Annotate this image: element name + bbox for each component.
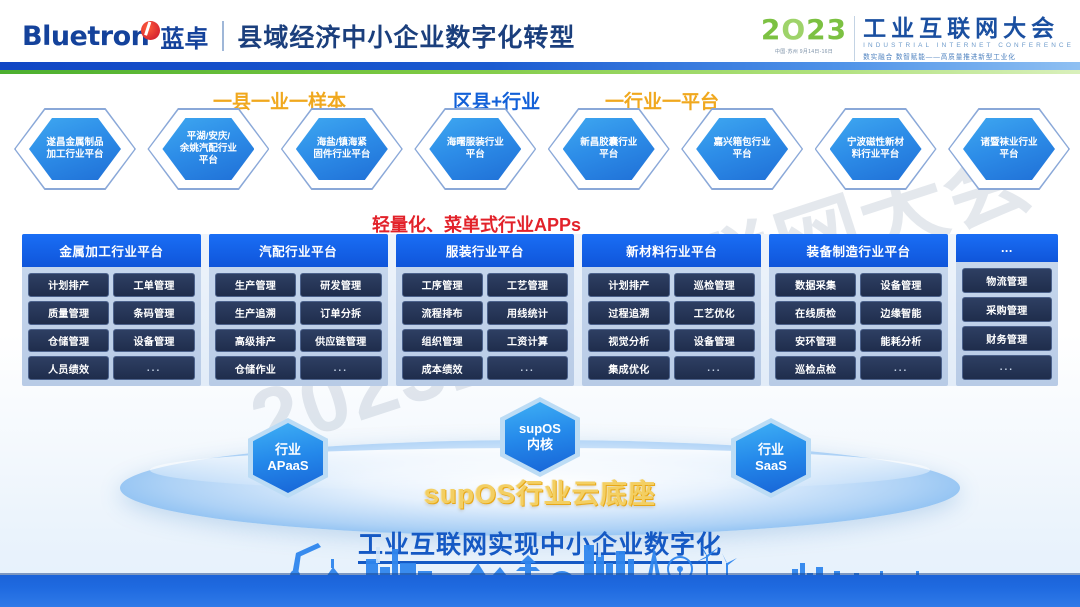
brand-cn-text: 蓝卓 (160, 19, 208, 54)
app-item[interactable]: ... (860, 356, 941, 380)
app-column-5[interactable]: 装备制造行业平台数据采集设备管理在线质检边缘智能安环管理能耗分析巡检点检... (769, 234, 948, 386)
hex-platform-8[interactable]: 诸暨袜业行业 平台 (948, 108, 1070, 190)
app-item[interactable]: 条码管理 (113, 301, 194, 325)
app-column-body: 生产管理研发管理生产追溯订单分拆高级排产供应链管理仓储作业... (209, 267, 388, 386)
app-item[interactable]: 巡检管理 (674, 273, 755, 297)
app-item[interactable]: 工艺优化 (674, 301, 755, 325)
conference-slogan: 数实融合 数智赋能——高质量推进新型工业化 (863, 51, 1074, 61)
app-column-body: 计划排产工单管理质量管理条码管理仓储管理设备管理人员绩效... (22, 267, 201, 386)
hex-platform-6[interactable]: 嘉兴箱包行业 平台 (681, 108, 803, 190)
conference-meta: 中国·苏州 9月14日-16日 (761, 48, 847, 55)
app-column-header: 金属加工行业平台 (22, 234, 201, 267)
header-blue-rule (0, 62, 1080, 70)
page-header: Bluetron 蓝卓 县域经济中小企业数字化转型 2O23 中国·苏州 9月1… (0, 0, 1080, 62)
hex-platform-3[interactable]: 海盐/镇海紧 固件行业平台 (281, 108, 403, 190)
app-item[interactable]: ... (962, 355, 1052, 380)
app-item[interactable]: 研发管理 (300, 273, 381, 297)
app-item[interactable]: 财务管理 (962, 326, 1052, 351)
hex-platform-4[interactable]: 海曙服装行业 平台 (414, 108, 536, 190)
app-column-body: 计划排产巡检管理过程追溯工艺优化视觉分析设备管理集成优化... (582, 267, 761, 386)
skyline-decoration (0, 529, 1080, 607)
app-column-body: 工序管理工艺管理流程排布用线统计组织管理工资计算成本绩效... (396, 267, 575, 386)
app-column-header: 汽配行业平台 (209, 234, 388, 267)
hex-platform-7[interactable]: 宁波磁性新材 料行业平台 (815, 108, 937, 190)
app-column-body: 物流管理采购管理财务管理... (956, 262, 1058, 386)
hex-label: 宁波磁性新材 料行业平台 (844, 137, 907, 161)
app-item[interactable]: 成本绩效 (402, 356, 483, 380)
hex-label: 诸暨袜业行业 平台 (977, 137, 1040, 161)
conference-name-en: INDUSTRIAL INTERNET CONFERENCE (863, 42, 1074, 49)
hex-label: 海盐/镇海紧 固件行业平台 (310, 137, 373, 161)
page-title: 县域经济中小企业数字化转型 (237, 18, 575, 54)
app-item[interactable]: 生产管理 (215, 273, 296, 297)
app-column-2[interactable]: 汽配行业平台生产管理研发管理生产追溯订单分拆高级排产供应链管理仓储作业... (209, 234, 388, 386)
header-divider (222, 21, 224, 51)
app-item[interactable]: 设备管理 (113, 329, 194, 353)
conference-logo: 2O23 中国·苏州 9月14日-16日 工业互联网大会 INDUSTRIAL … (761, 16, 1074, 61)
hex-platform-2[interactable]: 平湖/安庆/ 余姚汽配行业 平台 (147, 108, 269, 190)
conference-year-block: 2O23 中国·苏州 9月14日-16日 (761, 16, 854, 55)
app-column-3[interactable]: 服装行业平台工序管理工艺管理流程排布用线统计组织管理工资计算成本绩效... (396, 234, 575, 386)
app-item[interactable]: 过程追溯 (588, 301, 669, 325)
slide-root: 2023工业互联网大会 Bluetron 蓝卓 县域经济中小企业数字化转型 2O… (0, 0, 1080, 607)
app-item[interactable]: 工序管理 (402, 273, 483, 297)
industry-platform-hex-row: 遂昌金属制品 加工行业平台平湖/安庆/ 余姚汽配行业 平台海盐/镇海紧 固件行业… (14, 108, 1070, 190)
app-item[interactable]: 仓储作业 (215, 356, 296, 380)
app-item[interactable]: 安环管理 (775, 329, 856, 353)
hex-label: 平湖/安庆/ 余姚汽配行业 平台 (177, 131, 240, 167)
apps-panel: 金属加工行业平台计划排产工单管理质量管理条码管理仓储管理设备管理人员绩效...汽… (22, 234, 1058, 386)
brand-latin-text: Bluetron (22, 21, 149, 52)
app-item[interactable]: 人员绩效 (28, 356, 109, 380)
app-item[interactable]: ... (300, 356, 381, 380)
brand-lockup: Bluetron 蓝卓 县域经济中小企业数字化转型 (22, 18, 575, 54)
app-item[interactable]: 用线统计 (487, 301, 568, 325)
conference-name-cn: 工业互联网大会 (863, 16, 1074, 40)
app-item[interactable]: 计划排产 (28, 273, 109, 297)
conference-name-block: 工业互联网大会 INDUSTRIAL INTERNET CONFERENCE 数… (863, 16, 1074, 61)
shield-apaas-label: 行业 APaaS (267, 442, 308, 473)
app-item[interactable]: 订单分拆 (300, 301, 381, 325)
app-item[interactable]: ... (113, 356, 194, 380)
conference-year: 2O23 (761, 16, 847, 44)
hex-label: 海曙服装行业 平台 (444, 137, 507, 161)
hex-label: 新昌胶囊行业 平台 (577, 137, 640, 161)
app-item[interactable]: 设备管理 (674, 329, 755, 353)
brand-mark-icon (141, 21, 160, 40)
app-column-6[interactable]: ...物流管理采购管理财务管理... (956, 234, 1058, 386)
hex-platform-1[interactable]: 遂昌金属制品 加工行业平台 (14, 108, 136, 190)
app-item[interactable]: 工资计算 (487, 329, 568, 353)
app-column-header: ... (956, 234, 1058, 262)
hex-label: 嘉兴箱包行业 平台 (711, 137, 774, 161)
hex-label: 遂昌金属制品 加工行业平台 (43, 137, 106, 161)
app-column-header: 新材料行业平台 (582, 234, 761, 267)
app-item[interactable]: 数据采集 (775, 273, 856, 297)
app-item[interactable]: 工艺管理 (487, 273, 568, 297)
app-item[interactable]: 视觉分析 (588, 329, 669, 353)
app-item[interactable]: 采购管理 (962, 297, 1052, 322)
app-item[interactable]: 高级排产 (215, 329, 296, 353)
app-column-body: 数据采集设备管理在线质检边缘智能安环管理能耗分析巡检点检... (769, 267, 948, 386)
shield-kernel-label: supOS 内核 (519, 421, 561, 452)
app-column-1[interactable]: 金属加工行业平台计划排产工单管理质量管理条码管理仓储管理设备管理人员绩效... (22, 234, 201, 386)
app-item[interactable]: 集成优化 (588, 356, 669, 380)
app-item[interactable]: 计划排产 (588, 273, 669, 297)
app-column-4[interactable]: 新材料行业平台计划排产巡检管理过程追溯工艺优化视觉分析设备管理集成优化... (582, 234, 761, 386)
header-green-rule (0, 70, 1080, 74)
app-item[interactable]: 在线质检 (775, 301, 856, 325)
app-item[interactable]: 生产追溯 (215, 301, 296, 325)
app-item[interactable]: 边缘智能 (860, 301, 941, 325)
conference-divider (854, 16, 855, 61)
app-column-header: 装备制造行业平台 (769, 234, 948, 267)
app-column-header: 服装行业平台 (396, 234, 575, 267)
app-item[interactable]: 设备管理 (860, 273, 941, 297)
app-item[interactable]: 流程排布 (402, 301, 483, 325)
app-item[interactable]: 仓储管理 (28, 329, 109, 353)
app-item[interactable]: ... (487, 356, 568, 380)
app-item[interactable]: 质量管理 (28, 301, 109, 325)
hex-platform-5[interactable]: 新昌胶囊行业 平台 (548, 108, 670, 190)
app-item[interactable]: 能耗分析 (860, 329, 941, 353)
shield-saas-label: 行业 SaaS (755, 442, 787, 473)
app-item[interactable]: 物流管理 (962, 268, 1052, 293)
sea-band (0, 575, 1080, 607)
app-item[interactable]: ... (674, 356, 755, 380)
app-item[interactable]: 组织管理 (402, 329, 483, 353)
app-item[interactable]: 巡检点检 (775, 356, 856, 380)
app-item[interactable]: 工单管理 (113, 273, 194, 297)
platform-title: supOS行业云底座 (0, 472, 1080, 511)
shield-supos-kernel: supOS 内核 (500, 397, 580, 477)
app-item[interactable]: 供应链管理 (300, 329, 381, 353)
